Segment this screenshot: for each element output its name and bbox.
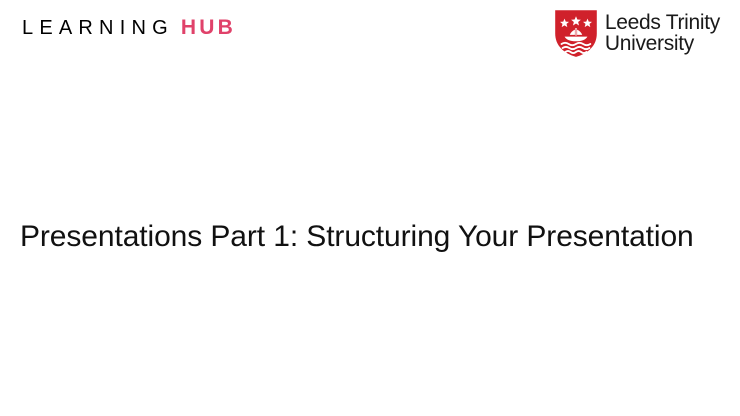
- university-name-line-2: University: [605, 34, 720, 54]
- learning-hub-logo: LEARNING HUB: [22, 17, 236, 38]
- shield-crest-icon: [554, 9, 598, 58]
- learning-hub-logo-accent-text: HUB: [181, 17, 236, 38]
- leeds-trinity-university-logo: Leeds Trinity University: [554, 9, 720, 58]
- slide-body-placeholder: [20, 250, 720, 406]
- learning-hub-logo-primary-text: LEARNING: [22, 18, 174, 38]
- university-name: Leeds Trinity University: [605, 13, 720, 54]
- university-name-line-1: Leeds Trinity: [605, 13, 720, 33]
- slide-canvas: LEARNING HUB: [0, 0, 740, 416]
